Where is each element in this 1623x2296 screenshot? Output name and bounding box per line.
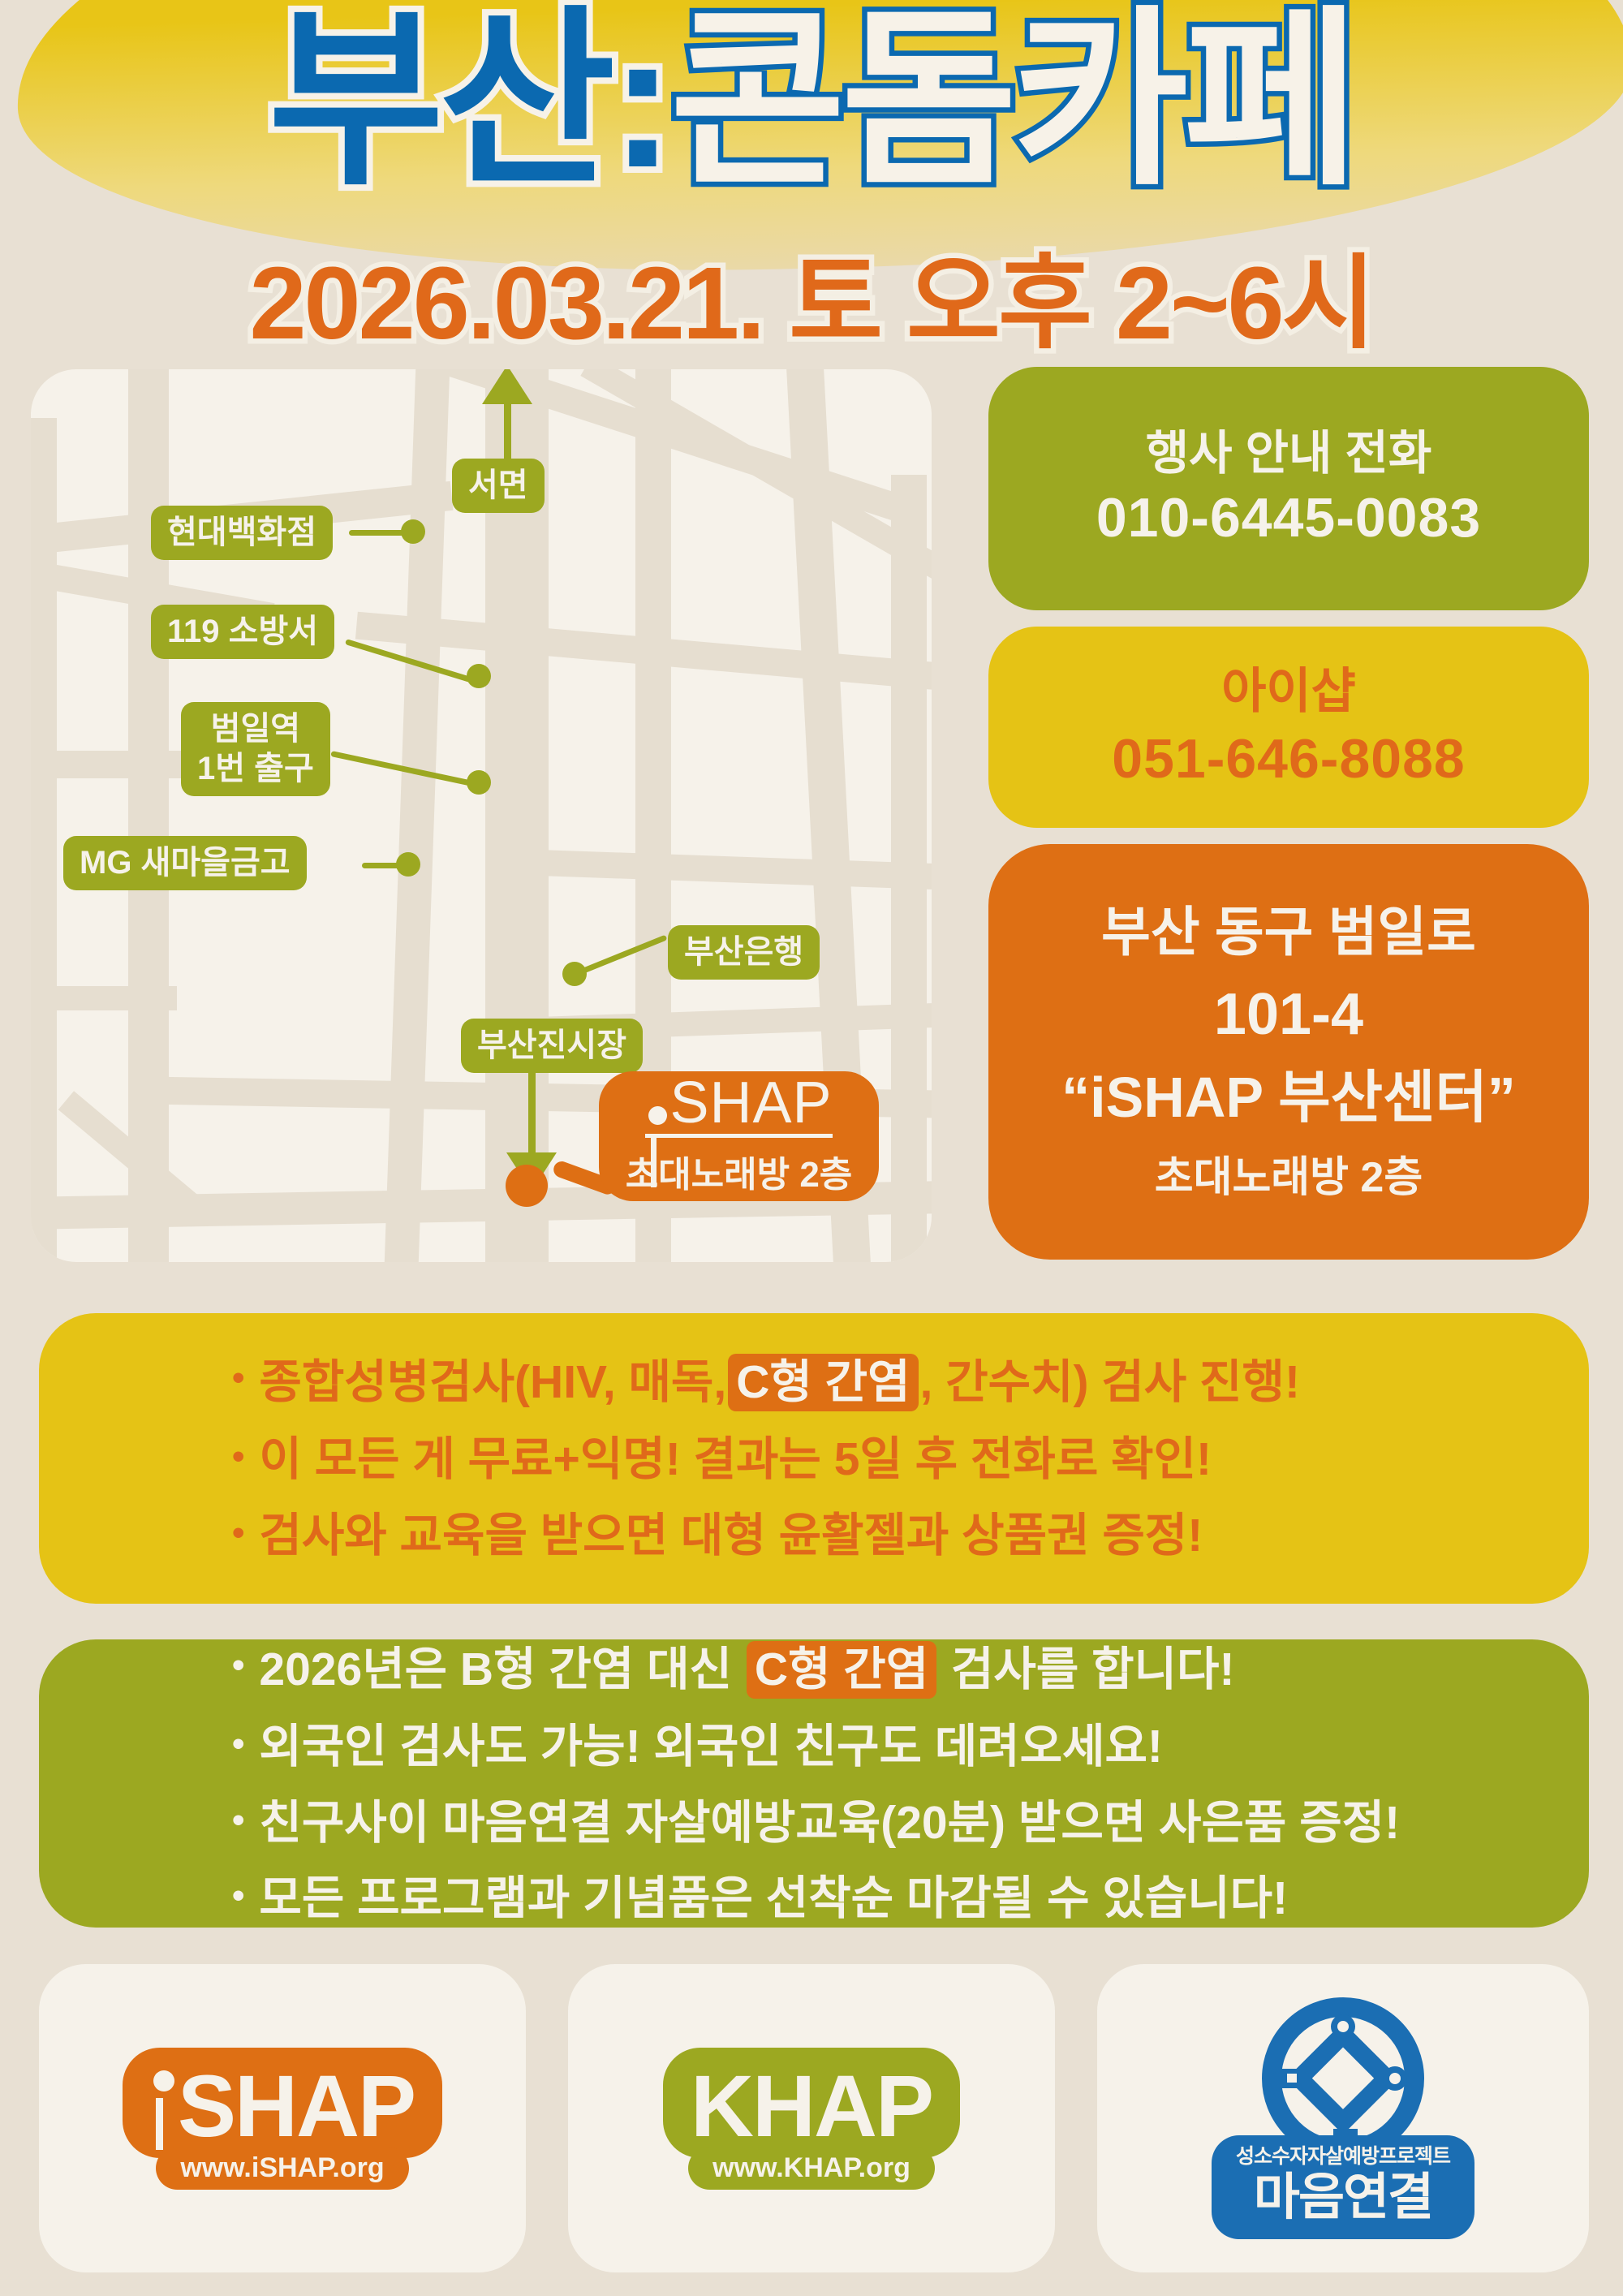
maeum-title: 마음연결 — [1254, 2171, 1432, 2224]
map-label-mg-credit-union[interactable]: MG 새마을금고 — [63, 836, 307, 890]
testing-info-panel: • 종합성병검사(HIV, 매독,C형 간염, 간수치) 검사 진행! • 이 … — [39, 1313, 1589, 1604]
ishop-phone[interactable]: 051-646-8088 — [1112, 723, 1465, 795]
map-label-busan-bank[interactable]: 부산은행 — [668, 925, 820, 980]
venue-floor: 초대노래방 2층 — [626, 1145, 853, 1197]
ishap-logo-letters: SHAP — [178, 2062, 415, 2150]
road-h2 — [31, 751, 185, 778]
ishap-logo: SHAP www.iSHAP.org — [123, 2048, 442, 2190]
bullet-icon: • — [232, 1432, 244, 1480]
title-zone: 부산:콘돔카페 2026.03.21. 토 오후 2~6시 — [0, 0, 1623, 357]
venue-brand: SHAP — [645, 1075, 832, 1138]
event-date-time: 2026.03.21. 토 오후 2~6시 — [0, 221, 1623, 357]
notice-bullets: • 2026년은 B형 간염 대신 C형 간염 검사를 합니다! • 외국인 검… — [232, 1639, 1532, 1928]
list-item: • 이 모든 게 무료+익명! 결과는 5일 후 전화로 확인! — [232, 1432, 1532, 1487]
road-h4 — [510, 849, 932, 890]
map-label-fire-station[interactable]: 119 소방서 — [151, 605, 334, 659]
list-item: • 외국인 검사도 가능! 외국인 친구도 데려오세요! — [232, 1720, 1532, 1774]
maeum-logo-card[interactable]: 성소수자자살예방프로젝트 마음연결 — [1097, 1964, 1589, 2272]
road-v1 — [128, 369, 169, 1262]
bullet-text: 친구사이 마음연결 자살예방교육(20분) 받으면 사은품 증정! — [259, 1796, 1400, 1850]
maeum-logo: 성소수자자살예방프로젝트 마음연결 — [1212, 1997, 1474, 2238]
ishop-card[interactable]: 아이샵 051-646-8088 — [988, 627, 1589, 828]
venue-marker-dot — [506, 1165, 548, 1207]
map-label-seomyeon[interactable]: 서면 — [452, 459, 545, 513]
beomil-line2: 1번 출구 — [197, 751, 314, 786]
map-label-beomil-station[interactable]: 범일역 1번 출구 — [181, 702, 330, 796]
bullet-icon: • — [232, 1872, 244, 1919]
poster-title: 부산:콘돔카페 — [0, 5, 1623, 196]
bullet-text: 검사와 교육을 받으면 대형 윤활젤과 상품권 증정! — [259, 1509, 1203, 1563]
list-item: • 모든 프로그램과 기념품은 선착순 마감될 수 있습니다! — [232, 1872, 1532, 1926]
bullet-text: 이 모든 게 무료+익명! 결과는 5일 후 전화로 확인! — [259, 1432, 1212, 1487]
location-map[interactable]: 서면 현대백화점 119 소방서 범일역 1번 출구 MG 새마을금고 부산은행… — [31, 369, 932, 1262]
list-item: • 종합성병검사(HIV, 매독,C형 간염, 간수치) 검사 진행! — [232, 1354, 1532, 1411]
bullet-text: 2026년은 B형 간염 대신 C형 간염 검사를 합니다! — [259, 1641, 1234, 1699]
map-dot-beomil — [467, 770, 491, 795]
contact-phone[interactable]: 010-6445-0083 — [1096, 484, 1481, 553]
bullet-text: 외국인 검사도 가능! 외국인 친구도 데려오세요! — [259, 1720, 1163, 1774]
address-line-3: “iSHAP 부산센터” — [1061, 1061, 1516, 1135]
bullet-text: 모든 프로그램과 기념품은 선착순 마감될 수 있습니다! — [259, 1872, 1288, 1926]
maeum-badge: 성소수자자살예방프로젝트 마음연결 — [1212, 2135, 1474, 2238]
map-dot-fire-station — [467, 664, 491, 688]
bullet-icon: • — [232, 1509, 244, 1557]
contact-card[interactable]: 행사 안내 전화 010-6445-0083 — [988, 367, 1589, 610]
address-card: 부산 동구 범일로 101-4 “iSHAP 부산센터” 초대노래방 2층 — [988, 844, 1589, 1260]
map-label-busanjin-market[interactable]: 부산진시장 — [461, 1019, 643, 1073]
list-item: • 2026년은 B형 간염 대신 C형 간염 검사를 합니다! — [232, 1641, 1532, 1699]
seomyeon-arrow-icon — [482, 369, 532, 404]
poster-root: 부산:콘돔카페 2026.03.21. 토 오후 2~6시 서면 현대백화점 — [0, 0, 1623, 2296]
map-dot-hyundai — [401, 519, 425, 544]
bullet-icon: • — [232, 1354, 244, 1402]
venue-brand-letters: SHAP — [669, 1075, 832, 1131]
address-line-2: 101-4 — [1214, 977, 1363, 1053]
list-item: • 검사와 교육을 받으면 대형 윤활젤과 상품권 증정! — [232, 1509, 1532, 1563]
map-label-hyundai[interactable]: 현대백화점 — [151, 506, 333, 560]
bullet-icon: • — [232, 1641, 244, 1689]
ishop-label: 아이샵 — [1221, 660, 1356, 723]
highlight-badge: C형 간염 — [747, 1641, 936, 1699]
khap-logo-mark: KHAP — [663, 2048, 960, 2158]
bullet-text: 종합성병검사(HIV, 매독,C형 간염, 간수치) 검사 진행! — [259, 1354, 1300, 1411]
list-item: • 친구사이 마음연결 자살예방교육(20분) 받으면 사은품 증정! — [232, 1796, 1532, 1850]
bullet-icon: • — [232, 1720, 244, 1768]
map-dot-mg — [396, 852, 420, 877]
beomil-line1: 범일역 — [211, 711, 300, 747]
road-h5 — [31, 986, 177, 1010]
khap-logo: KHAP www.KHAP.org — [663, 2048, 960, 2190]
title-city: 부산: — [268, 5, 669, 196]
ishap-i-icon — [150, 2066, 178, 2150]
map-dot-busan-bank — [562, 962, 587, 986]
address-line-4: 초대노래방 2층 — [1155, 1151, 1423, 1206]
testing-info-bullets: • 종합성병검사(HIV, 매독,C형 간염, 간수치) 검사 진행! • 이 … — [232, 1313, 1532, 1604]
venue-bubble[interactable]: SHAP 초대노래방 2층 — [599, 1071, 879, 1201]
maeum-subtitle: 성소수자자살예방프로젝트 — [1236, 2147, 1450, 2167]
title-event: 콘돔카페 — [669, 5, 1354, 196]
bullet-icon: • — [232, 1796, 244, 1844]
address-line-1: 부산 동구 범일로 — [1101, 898, 1476, 967]
ishap-logo-card[interactable]: SHAP www.iSHAP.org — [39, 1964, 526, 2272]
ishap-logo-mark: SHAP — [123, 2048, 442, 2158]
ishap-url[interactable]: www.iSHAP.org — [156, 2147, 408, 2190]
road-diag2 — [580, 369, 932, 587]
khap-url[interactable]: www.KHAP.org — [688, 2147, 935, 2190]
khap-logo-card[interactable]: KHAP www.KHAP.org — [568, 1964, 1055, 2272]
highlight-badge: C형 간염 — [728, 1354, 918, 1411]
notice-panel: • 2026년은 B형 간염 대신 C형 간염 검사를 합니다! • 외국인 검… — [39, 1639, 1589, 1928]
contact-label: 행사 안내 전화 — [1146, 424, 1431, 484]
busanjin-arrow-stem — [528, 1071, 536, 1157]
